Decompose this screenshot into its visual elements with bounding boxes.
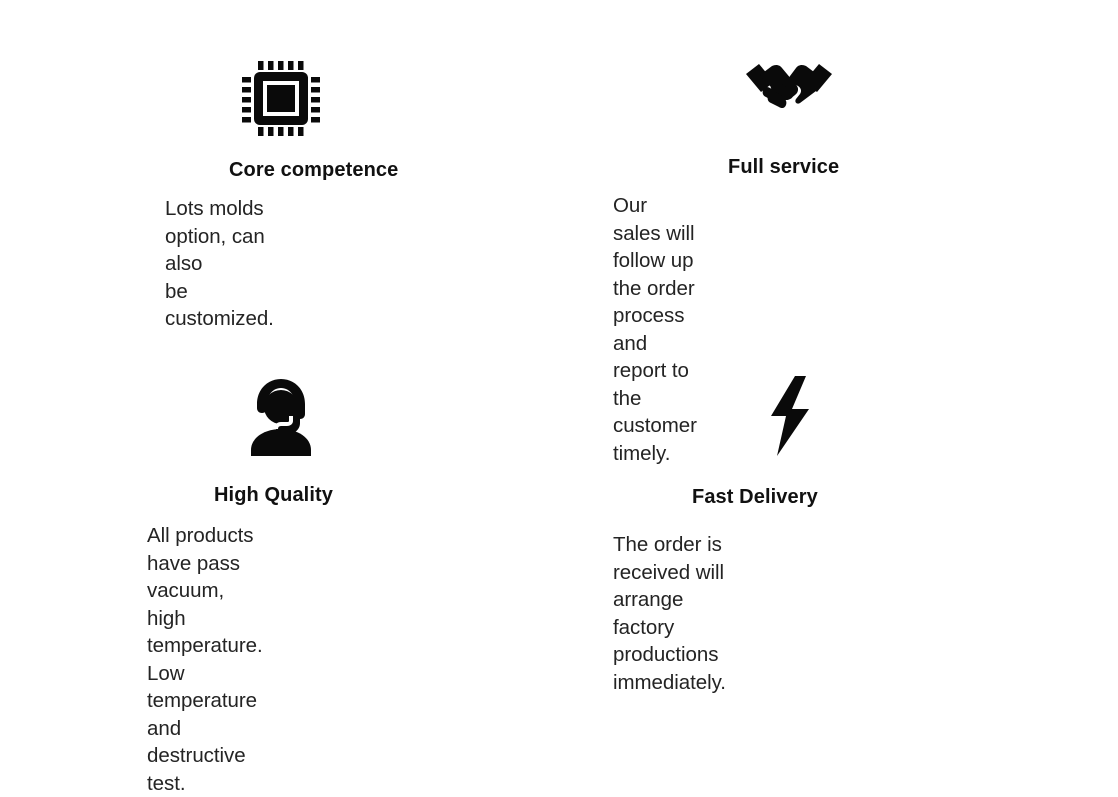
feature-description: All products have pass vacuum, high temp… bbox=[147, 522, 263, 797]
feature-title: Core competence bbox=[229, 158, 398, 182]
feature-description: The order is received will arrange facto… bbox=[613, 531, 726, 696]
feature-description: Our sales will follow up the order proce… bbox=[613, 192, 697, 467]
chip-icon bbox=[242, 61, 320, 136]
feature-title: High Quality bbox=[214, 483, 333, 507]
feature-description: Lots molds option, can also be customize… bbox=[165, 195, 274, 333]
feature-title: Fast Delivery bbox=[692, 485, 818, 509]
feature-grid: Core competence Lots molds option, can a… bbox=[0, 0, 1118, 648]
handshake-icon bbox=[746, 61, 832, 109]
lightning-bolt-icon bbox=[767, 376, 813, 456]
feature-title: Full service bbox=[728, 155, 839, 179]
headset-person-icon bbox=[247, 378, 315, 456]
